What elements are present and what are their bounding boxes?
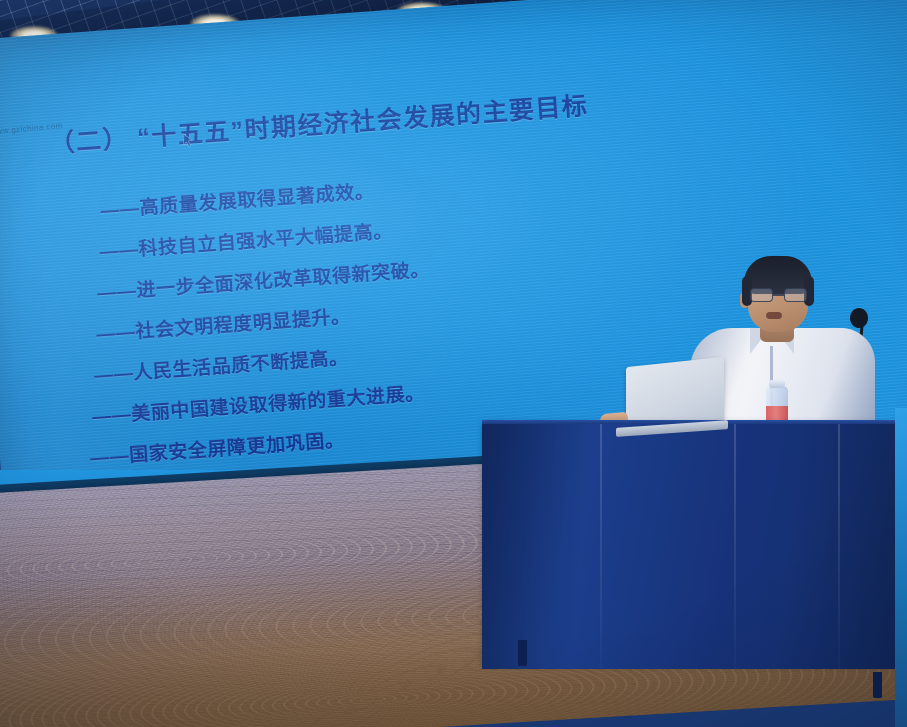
- speaker-mouth: [766, 312, 782, 319]
- draped-table: [482, 424, 907, 669]
- table-fold: [600, 424, 602, 669]
- water-bottle-cap: [769, 380, 785, 388]
- glasses-lens-right: [784, 288, 807, 302]
- slide-title: （二） “十五五”时期经济社会发展的主要目标: [48, 86, 589, 161]
- glasses-bridge: [773, 294, 784, 296]
- presentation-photo: www.gzlchina.com （二） “十五五”时期经济社会发展的主要目标 …: [0, 0, 907, 727]
- table-fold: [734, 424, 736, 669]
- mouse-pointer-icon: [182, 132, 194, 148]
- table-leg-right: [873, 672, 882, 698]
- glasses-icon: [750, 288, 807, 302]
- glasses-lens-left: [750, 288, 773, 302]
- table-leg-left: [518, 640, 527, 666]
- microphone-head: [850, 308, 868, 328]
- table-shading: [482, 424, 907, 669]
- water-bottle-label: [766, 406, 788, 421]
- table-fold: [838, 424, 840, 669]
- right-wall-strip: [895, 408, 907, 727]
